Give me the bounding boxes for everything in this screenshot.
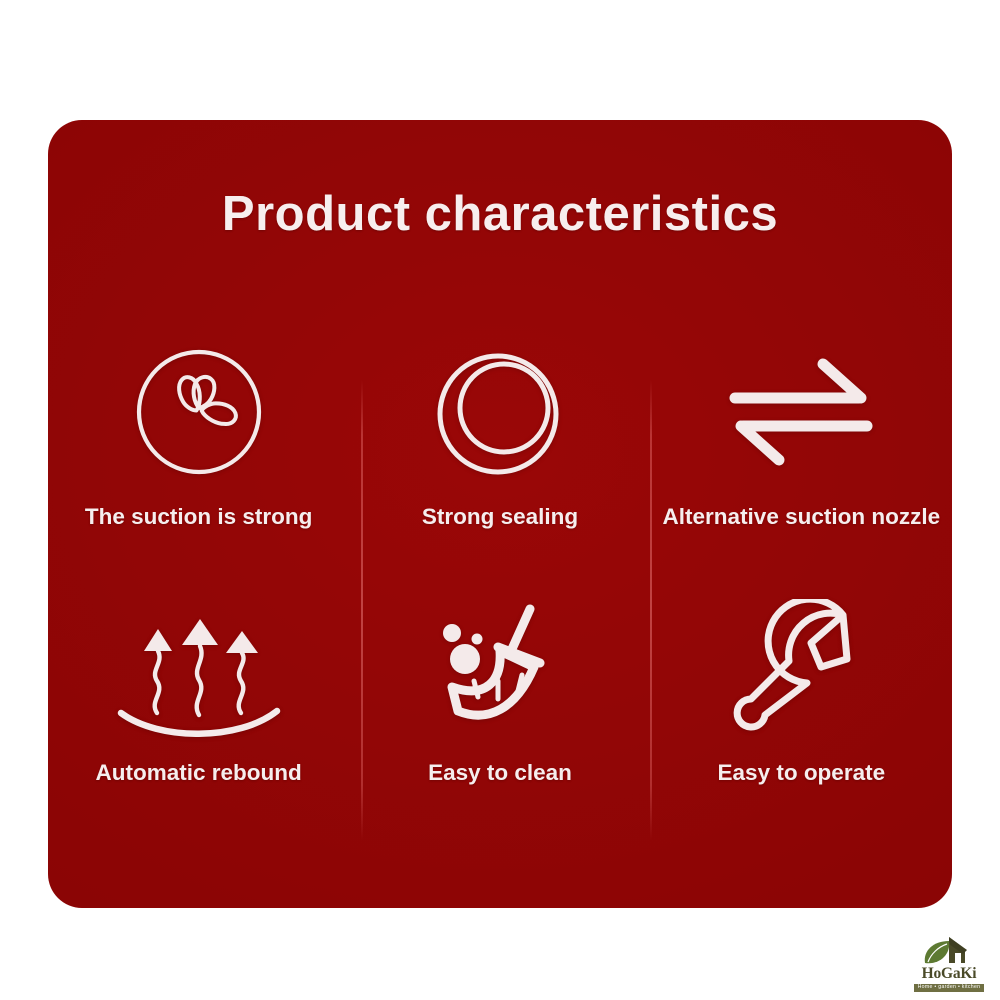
- feature-item-sealing: Strong sealing: [349, 342, 650, 594]
- feature-item-clean: Easy to clean: [349, 594, 650, 846]
- brand-name: HoGaKi: [922, 966, 977, 982]
- page-title: Product characteristics: [48, 186, 952, 242]
- brand-tagline: Home • garden • kitchen: [914, 984, 985, 992]
- broom-icon: [430, 594, 570, 744]
- feature-label: Easy to operate: [718, 760, 886, 786]
- feature-item-operate: Easy to operate: [651, 594, 952, 846]
- feature-label: The suction is strong: [85, 504, 313, 530]
- wrench-icon: [731, 594, 871, 744]
- leaf-house-icon: [919, 933, 979, 967]
- rising-waves-icon: [115, 594, 283, 744]
- feature-label: Easy to clean: [428, 760, 572, 786]
- feature-grid: The suction is strong Strong sealing: [48, 342, 952, 846]
- fan-icon: [133, 342, 265, 482]
- exchange-arrows-icon: [727, 342, 875, 482]
- feature-item-suction: The suction is strong: [48, 342, 349, 594]
- feature-item-rebound: Automatic rebound: [48, 594, 349, 846]
- brand-logo: HoGaKi Home • garden • kitchen: [906, 916, 992, 992]
- feature-label: Alternative suction nozzle: [663, 504, 941, 530]
- feature-label: Strong sealing: [422, 504, 578, 530]
- product-characteristics-panel: Product characteristics The suction is s…: [48, 120, 952, 908]
- feature-item-nozzle: Alternative suction nozzle: [651, 342, 952, 594]
- concentric-rings-icon: [434, 342, 566, 482]
- feature-label: Automatic rebound: [96, 760, 302, 786]
